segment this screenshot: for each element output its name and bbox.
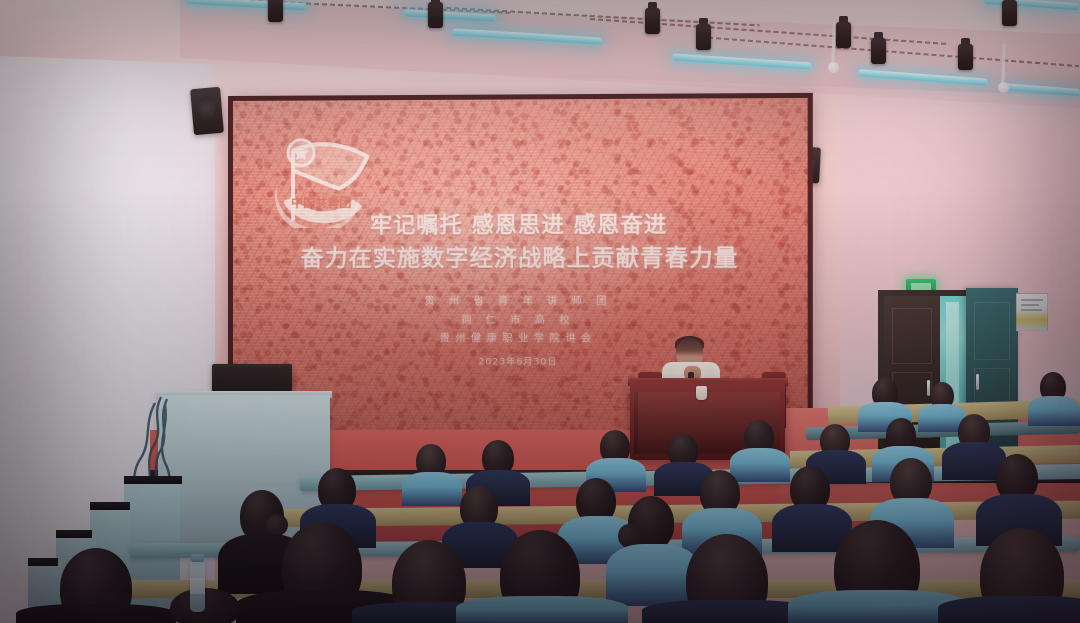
audience-shoulders <box>730 448 790 482</box>
stair-nosing <box>56 530 92 538</box>
lecture-hall-photo: 中国共青团 牢记嘱托 感恩思进 感恩奋进 奋力在实施数字经济战略上贡献青春力量 … <box>0 0 1080 623</box>
notice-text-line <box>1021 309 1042 311</box>
audience-shoulders <box>402 472 462 506</box>
audience-hair-bun <box>266 514 288 536</box>
stair-nosing <box>90 502 130 510</box>
foreground-shoulders <box>456 596 628 623</box>
stair-nosing <box>124 476 182 484</box>
door-panel <box>892 308 932 364</box>
door-panel <box>974 302 1010 360</box>
foreground-shoulders <box>938 596 1080 623</box>
wall-notice-board <box>1016 293 1048 331</box>
notice-text-line <box>1021 299 1043 301</box>
stair-nosing <box>28 558 58 566</box>
water-bottle-label <box>190 578 205 594</box>
audience-shoulders <box>1028 396 1080 426</box>
foreground-head <box>170 588 240 623</box>
wall-mounted-loudspeaker <box>190 87 224 135</box>
door-handle[interactable] <box>976 374 979 390</box>
foreground-shoulders <box>16 604 176 623</box>
notice-text-line <box>1021 304 1039 306</box>
water-cup <box>696 386 707 400</box>
water-bottle-cap <box>191 554 204 562</box>
